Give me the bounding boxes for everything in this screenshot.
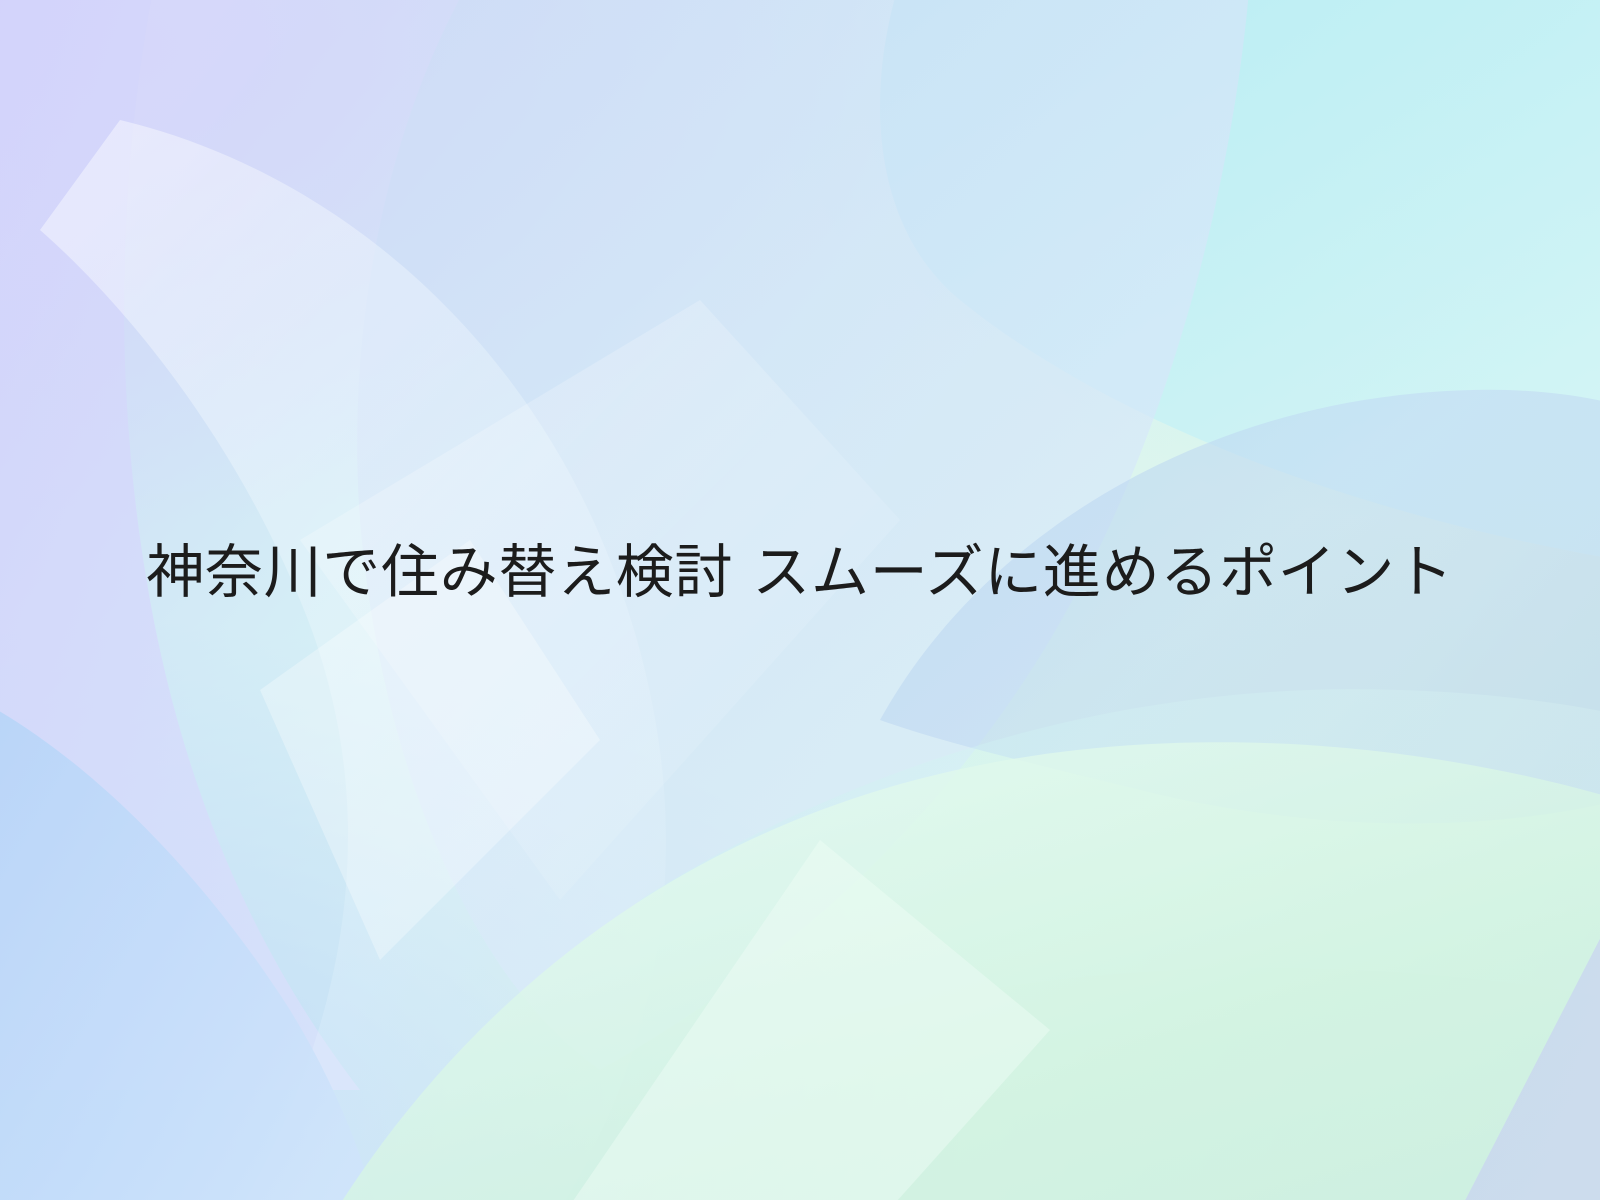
aqua-band-mid-right bbox=[640, 689, 1600, 1024]
slide-title: 神奈川で住み替え検討 スムーズに進めるポイント bbox=[146, 536, 1454, 609]
periwinkle-sliver-upper-right bbox=[1200, 180, 1290, 300]
periwinkle-triangle-bottom-right bbox=[1455, 900, 1600, 1200]
soft-blue-wedge-bottom-left bbox=[0, 700, 380, 1200]
cyan-wash-top-right bbox=[880, 0, 1600, 560]
white-arc-left bbox=[40, 120, 666, 1200]
mint-sweep-bottom-right bbox=[330, 742, 1600, 1200]
pale-mint-highlight-bottom-center bbox=[560, 840, 1050, 1200]
title-container: 神奈川で住み替え検討 スムーズに進めるポイント bbox=[0, 517, 1600, 627]
title-slide: 神奈川で住み替え検討 スムーズに進めるポイント bbox=[0, 0, 1600, 1200]
